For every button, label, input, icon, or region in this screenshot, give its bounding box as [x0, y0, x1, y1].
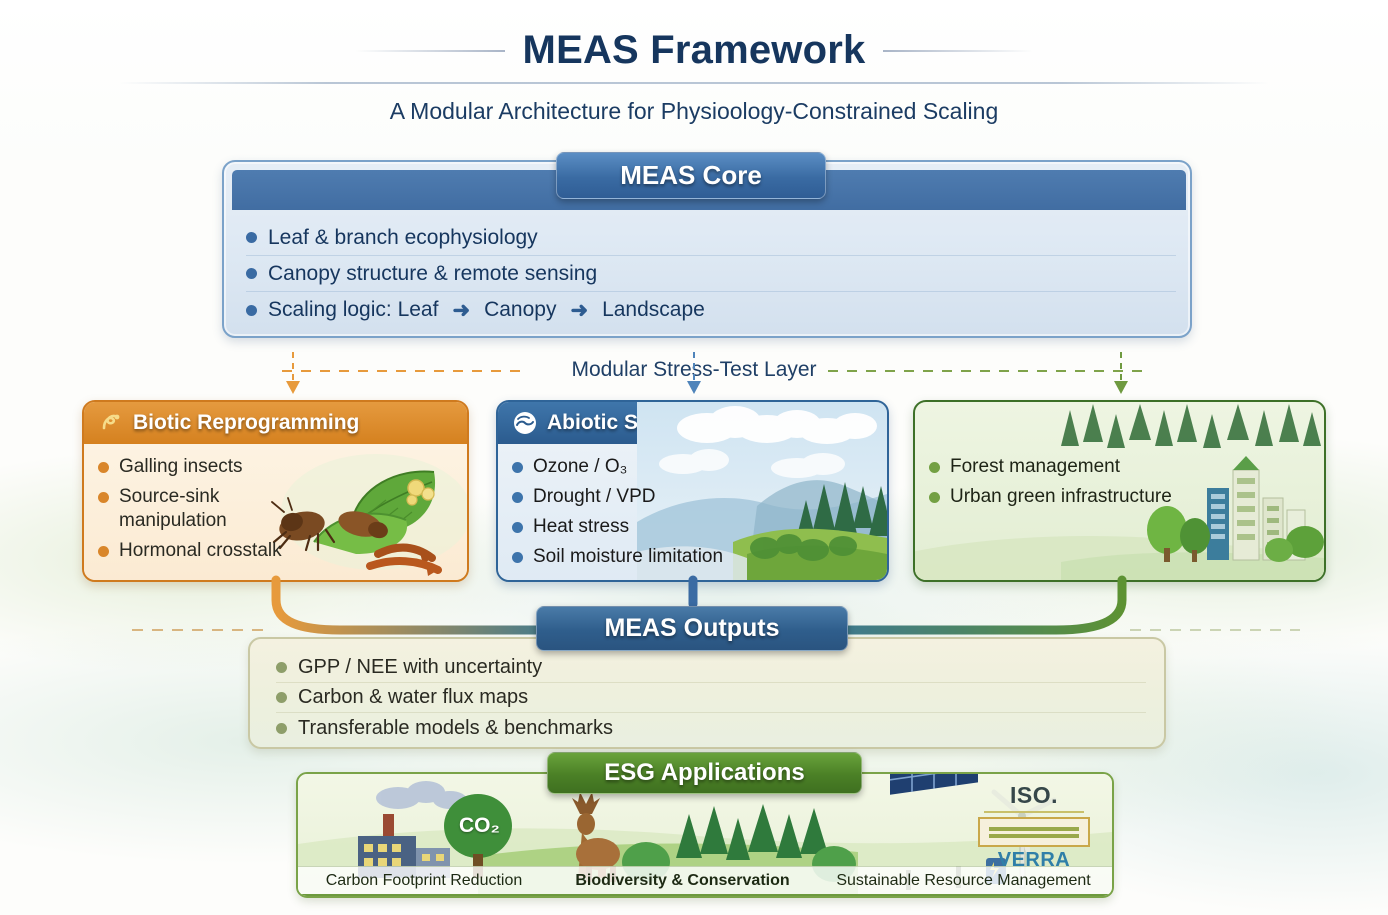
card-list-item: Galling insects [98, 455, 453, 479]
bullet-dot-icon [98, 462, 109, 473]
bullet-dot-icon [276, 723, 287, 734]
bullet-dot-icon [512, 462, 523, 473]
core-list-item: Leaf & branch ecophysiology [246, 220, 1176, 256]
insect-icon [98, 410, 124, 436]
arrow-right-icon: ➜ [449, 298, 473, 323]
weather-cloud-icon [512, 410, 538, 436]
bullet-dot-icon [276, 692, 287, 703]
co2-label: CO₂ [459, 814, 500, 838]
modular-stress-test-layer: Modular Stress-Test Layer [0, 352, 1388, 408]
card-item-label: Hormonal crosstalk [119, 539, 282, 563]
title-underline [119, 82, 1269, 84]
card-item-label: Urban green infrastructure [950, 485, 1172, 509]
certification-badges: ISO. VERRA [978, 782, 1090, 872]
card-list-item: Hormonal crosstalk [98, 539, 453, 563]
bullet-dot-icon [512, 492, 523, 503]
card-management-systems[interactable]: Management & Systems Forest management U… [913, 400, 1326, 582]
page-subtitle: A Modular Architecture for Physioology-C… [0, 98, 1388, 125]
core-item-label: Leaf & branch ecophysiology [268, 226, 538, 250]
bullet-dot-icon [98, 546, 109, 557]
core-bullet-list: Leaf & branch ecophysiology Canopy struc… [246, 220, 1176, 328]
card-biotic-header: Biotic Reprogramming [84, 402, 467, 444]
title-rule-right [883, 50, 1033, 52]
outputs-list-item: Carbon & water flux maps [276, 683, 1146, 713]
card-biotic-title: Biotic Reprogramming [133, 411, 359, 435]
card-item-label: Soil moisture limitation [533, 545, 723, 569]
card-item-label: Drought / VPD [533, 485, 656, 509]
card-list-item: Forest management [929, 455, 1310, 479]
card-biotic-body: Galling insects Source-sink manipulation… [84, 444, 467, 582]
card-item-label: Forest management [950, 455, 1120, 479]
bullet-dot-icon [929, 462, 940, 473]
page-title: MEAS Framework [523, 28, 866, 73]
iso-label: ISO. [978, 782, 1090, 809]
core-list-item-scaling: Scaling logic: Leaf ➜ Canopy ➜ Landscape [246, 292, 1176, 328]
bullet-dot-icon [246, 232, 257, 243]
arrow-right-icon: ➜ [567, 298, 591, 323]
page-header: MEAS Framework A Modular Architecture fo… [0, 28, 1388, 125]
dashed-line-right [828, 370, 1146, 372]
bullet-dot-icon [98, 492, 109, 503]
card-item-label: Heat stress [533, 515, 629, 539]
bullet-dot-icon [246, 268, 257, 279]
esg-label-sustainable: Sustainable Resource Management [815, 872, 1112, 890]
card-list-item: Urban green infrastructure [929, 485, 1310, 509]
card-item-label: Galling insects [119, 455, 243, 479]
esg-label-biodiversity: Biodiversity & Conservation [550, 872, 815, 890]
bullet-dot-icon [246, 305, 257, 316]
dashed-line-left [282, 370, 528, 372]
esg-label-row: Carbon Footprint Reduction Biodiversity … [298, 866, 1112, 896]
title-rule-left [355, 50, 505, 52]
core-list-item: Canopy structure & remote sensing [246, 256, 1176, 292]
card-list-item: Heat stress [512, 515, 873, 539]
card-list-item: Source-sink manipulation [98, 485, 453, 533]
meas-outputs-banner: MEAS Outputs [536, 606, 848, 651]
card-item-label: Ozone / O₃ [533, 455, 627, 479]
outputs-item-label: Transferable models & benchmarks [298, 717, 613, 740]
certificate-icon [978, 817, 1090, 847]
card-biotic-reprogramming[interactable]: Biotic Reprogramming Galling insects Sou… [82, 400, 469, 582]
card-list-item: Ozone / O₃ [512, 455, 873, 479]
meas-core-banner: MEAS Core [556, 152, 826, 199]
esg-label-carbon: Carbon Footprint Reduction [298, 872, 550, 890]
card-list-item: Soil moisture limitation [512, 545, 873, 569]
core-item-label: Canopy structure & remote sensing [268, 262, 597, 286]
bullet-dot-icon [512, 522, 523, 533]
scaling-prefix-label: Scaling logic: Leaf [268, 298, 438, 322]
scaling-mid-label: Canopy [484, 298, 556, 322]
card-item-label: Source-sink manipulation [119, 485, 269, 533]
bullet-dot-icon [929, 492, 940, 503]
outputs-item-label: Carbon & water flux maps [298, 686, 528, 709]
scaling-end-label: Landscape [602, 298, 705, 322]
card-abiotic-stress[interactable]: Abiotic Stress Ozone / O₃ Drought / VPD … [496, 400, 889, 582]
esg-applications-banner: ESG Applications [547, 752, 862, 794]
outputs-list-item: Transferable models & benchmarks [276, 713, 1146, 743]
bullet-dot-icon [512, 552, 523, 563]
card-list-item: Drought / VPD [512, 485, 873, 509]
